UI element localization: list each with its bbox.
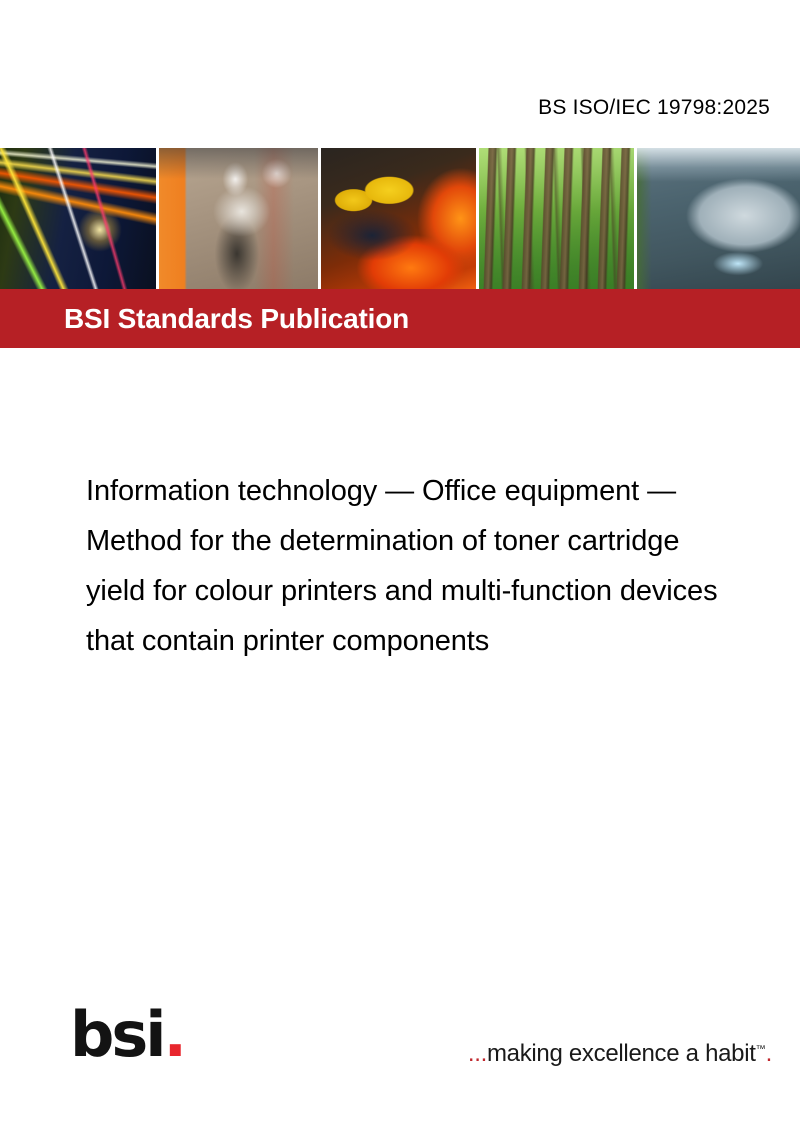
trademark-icon: ™ [756, 1044, 766, 1055]
bsi-logo-text: bsi [70, 998, 164, 1071]
bsi-logo-dot: . [164, 998, 185, 1071]
warehouse-worker-image [159, 148, 318, 289]
car-assembly-line-photo [637, 148, 800, 289]
car-assembly-line-image [637, 148, 800, 289]
title-line-3: yield for colour printers and multi-func… [86, 566, 800, 616]
tagline-period: . [766, 1040, 772, 1067]
traffic-light-trails-photo [0, 148, 156, 289]
title-line-2: Method for the determination of toner ca… [86, 516, 800, 566]
tagline-ellipsis: ... [468, 1040, 487, 1067]
page-title: Information technology — Office equipmen… [86, 466, 800, 666]
title-line-4: that contain printer components [86, 616, 800, 666]
tagline-text: making excellence a habit [487, 1040, 756, 1067]
firefighters-image [321, 148, 477, 289]
standard-number: BS ISO/IEC 19798:2025 [538, 96, 770, 120]
banner-title: BSI Standards Publication [64, 303, 409, 335]
standards-publication-banner: BSI Standards Publication [0, 289, 800, 348]
bsi-tagline: ...making excellence a habit™. [468, 1036, 772, 1068]
forest-image [479, 148, 634, 289]
warehouse-worker-photo [159, 148, 318, 289]
cover-photo-strip [0, 148, 800, 289]
title-line-1: Information technology — Office equipmen… [86, 466, 800, 516]
firefighters-photo [321, 148, 477, 289]
forest-photo [479, 148, 634, 289]
traffic-light-trails-image [0, 148, 156, 289]
bsi-logo: bsi. [70, 1004, 184, 1066]
